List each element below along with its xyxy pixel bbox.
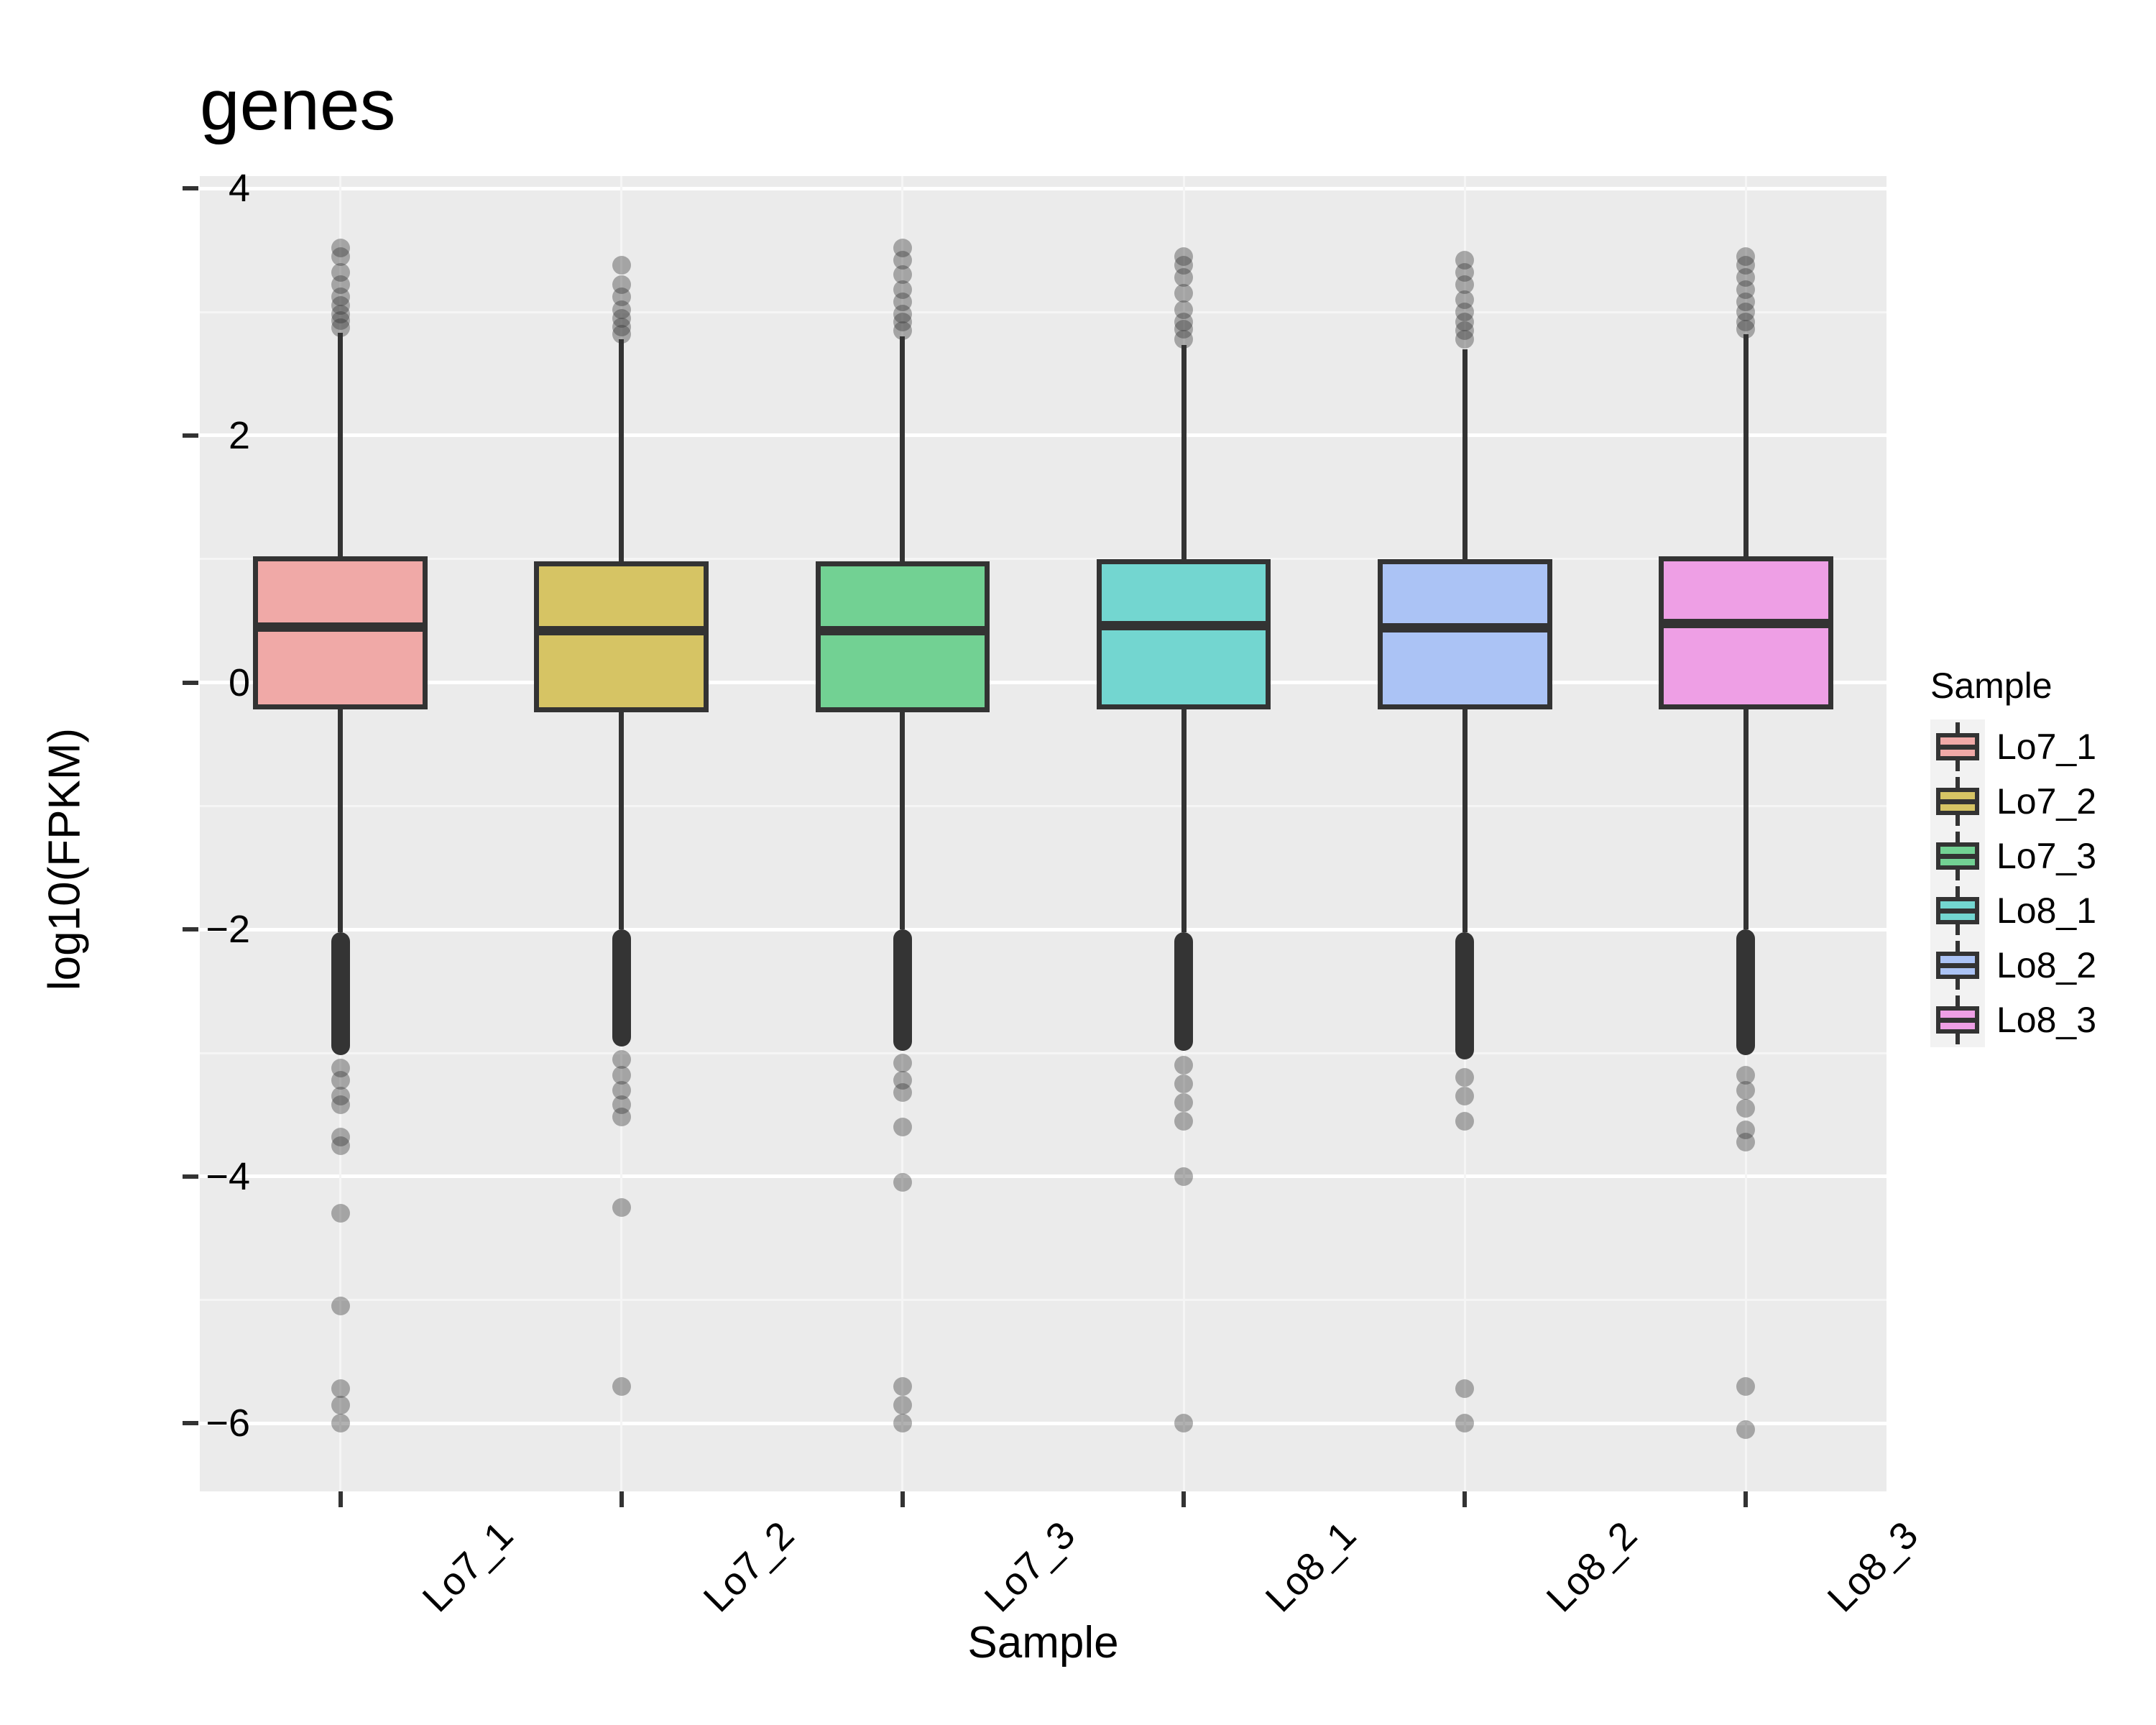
median-line [1378, 623, 1552, 632]
outlier-point [1174, 1075, 1193, 1093]
y-axis-tick-label: 2 [229, 413, 250, 458]
whisker-upper [1181, 345, 1187, 558]
outlier-point [1736, 247, 1755, 266]
legend-median-icon [1936, 963, 1979, 968]
legend-item-Lo8_3[interactable]: Lo8_3 [1930, 993, 2139, 1047]
gridline-minor [200, 1052, 1886, 1054]
legend-item-Lo7_3[interactable]: Lo7_3 [1930, 829, 2139, 883]
legend-swatch-Lo8_3 [1930, 993, 1985, 1047]
legend: Sample Lo7_1Lo7_2Lo7_3Lo8_1Lo8_2Lo8_3 [1930, 665, 2139, 1047]
median-line [534, 626, 709, 635]
median-line [816, 626, 990, 635]
x-axis-tick-mark [338, 1491, 343, 1507]
legend-item-Lo7_1[interactable]: Lo7_1 [1930, 719, 2139, 774]
outlier-point [1174, 1093, 1193, 1112]
boxplot-Lo7_1[interactable] [253, 176, 428, 1491]
outlier-point [331, 1095, 350, 1114]
outlier-point [612, 1108, 631, 1126]
outlier-point [893, 1173, 912, 1192]
outlier-point [1736, 1133, 1755, 1151]
box-iqr [1378, 559, 1552, 710]
outlier-point [1174, 1167, 1193, 1186]
whisker-upper [1743, 334, 1749, 556]
y-axis-tick-label: −4 [206, 1154, 250, 1199]
y-axis-tick-label: 0 [229, 661, 250, 705]
gridline-major [200, 928, 1886, 931]
outlier-point [1736, 1081, 1755, 1100]
x-axis-tick-label-Lo8_1: Lo8_1 [1257, 1513, 1365, 1621]
gridline-minor [200, 558, 1886, 560]
legend-swatch-Lo8_1 [1930, 883, 1985, 938]
outlier-point [893, 1377, 912, 1396]
outlier-point [331, 1297, 350, 1315]
whisker-lower [900, 712, 905, 929]
plot-panel [200, 176, 1886, 1491]
box-iqr [1659, 556, 1833, 709]
outlier-point [331, 1204, 350, 1223]
legend-label: Lo8_3 [1996, 999, 2096, 1041]
gridline-major [200, 1422, 1886, 1425]
outlier-point [893, 1118, 912, 1136]
outlier-point [1174, 1414, 1193, 1432]
outlier-cluster [1736, 929, 1755, 1055]
legend-swatch-Lo7_2 [1930, 774, 1985, 829]
outlier-point [1736, 1420, 1755, 1439]
outlier-point [331, 1414, 350, 1432]
outlier-point [612, 1377, 631, 1396]
outlier-point [1455, 1414, 1474, 1432]
outlier-cluster [331, 932, 350, 1056]
gridline-major [200, 187, 1886, 190]
legend-label: Lo8_1 [1996, 890, 2096, 931]
boxplot-Lo8_1[interactable] [1097, 176, 1271, 1491]
legend-label: Lo7_3 [1996, 835, 2096, 877]
legend-item-Lo7_2[interactable]: Lo7_2 [1930, 774, 2139, 829]
median-line [1659, 619, 1833, 628]
whisker-upper [338, 333, 343, 556]
legend-label: Lo7_1 [1996, 726, 2096, 768]
legend-median-icon [1936, 908, 1979, 914]
gridline-minor [200, 1299, 1886, 1301]
outlier-cluster [893, 929, 912, 1050]
outlier-point [1174, 247, 1193, 266]
outlier-point [612, 256, 631, 275]
outlier-point [612, 1198, 631, 1217]
y-axis-tick-mark [183, 927, 198, 931]
median-line [253, 622, 428, 632]
outlier-point [1455, 1087, 1474, 1105]
whisker-lower [1743, 709, 1749, 929]
outlier-point [893, 1414, 912, 1432]
legend-label: Lo7_2 [1996, 781, 2096, 822]
outlier-point [1736, 1377, 1755, 1396]
boxplot-Lo7_2[interactable] [534, 176, 709, 1491]
x-axis-tick-label-Lo8_3: Lo8_3 [1819, 1513, 1927, 1621]
legend-swatch-Lo7_1 [1930, 719, 1985, 774]
boxplot-Lo7_3[interactable] [816, 176, 990, 1491]
boxplot-Lo8_2[interactable] [1378, 176, 1552, 1491]
y-axis-tick-label: −6 [206, 1401, 250, 1445]
outlier-cluster [612, 929, 631, 1046]
boxplot-Lo8_3[interactable] [1659, 176, 1833, 1491]
outlier-point [1455, 1068, 1474, 1087]
outlier-point [1174, 1112, 1193, 1131]
outlier-point [1174, 300, 1193, 319]
legend-median-icon [1936, 1018, 1979, 1023]
whisker-upper [619, 339, 624, 561]
y-axis-tick-mark [183, 433, 198, 438]
y-axis-tick-mark [183, 186, 198, 190]
box-iqr [816, 561, 990, 712]
gridline-minor [200, 805, 1886, 807]
outlier-point [331, 263, 350, 282]
outlier-point [1455, 1379, 1474, 1398]
legend-title: Sample [1930, 665, 2139, 707]
outlier-point [1736, 1099, 1755, 1118]
outlier-point [893, 1054, 912, 1072]
legend-swatch-Lo8_2 [1930, 938, 1985, 993]
outlier-point [331, 1136, 350, 1155]
whisker-lower [619, 712, 624, 929]
outlier-point [331, 1396, 350, 1414]
x-axis-tick-label-Lo7_3: Lo7_3 [976, 1513, 1084, 1621]
x-axis-tick-label-Lo7_2: Lo7_2 [695, 1513, 803, 1621]
x-axis-tick-mark [619, 1491, 624, 1507]
y-axis-tick-mark [183, 1421, 198, 1425]
outlier-point [1455, 251, 1474, 270]
box-iqr [534, 561, 709, 712]
outlier-point [893, 239, 912, 257]
gridline-minor [200, 311, 1886, 313]
y-axis-tick-label: 4 [229, 166, 250, 211]
y-axis-title: log10(FPKM) [40, 608, 91, 1111]
page-title: genes [200, 69, 395, 141]
legend-items: Lo7_1Lo7_2Lo7_3Lo8_1Lo8_2Lo8_3 [1930, 719, 2139, 1047]
x-axis-tick-mark [1181, 1491, 1186, 1507]
x-axis-tick-label-Lo7_1: Lo7_1 [414, 1513, 522, 1621]
legend-median-icon [1936, 799, 1979, 804]
gridline-major [200, 433, 1886, 437]
outlier-point [1455, 1112, 1474, 1131]
legend-swatch-Lo7_3 [1930, 829, 1985, 883]
whisker-lower [1462, 709, 1468, 931]
gridline-major [200, 1174, 1886, 1178]
outlier-cluster [1455, 932, 1474, 1059]
y-axis-tick-mark [183, 1174, 198, 1179]
median-line [1097, 621, 1271, 630]
legend-item-Lo8_2[interactable]: Lo8_2 [1930, 938, 2139, 993]
y-axis-tick-mark [183, 681, 198, 685]
outlier-point [893, 1083, 912, 1102]
x-axis-tick-label-Lo8_2: Lo8_2 [1538, 1513, 1646, 1621]
gridline-major [200, 681, 1886, 684]
whisker-upper [1462, 349, 1468, 559]
whisker-lower [338, 709, 343, 931]
legend-median-icon [1936, 854, 1979, 859]
x-axis-title: Sample [200, 1617, 1886, 1668]
outlier-point [1174, 1056, 1193, 1075]
outlier-point [1174, 284, 1193, 303]
whisker-lower [1181, 709, 1187, 931]
outlier-cluster [1174, 932, 1193, 1051]
x-axis-tick-mark [900, 1491, 905, 1507]
outlier-point [612, 275, 631, 294]
outlier-point [331, 239, 350, 257]
x-axis-tick-mark [1743, 1491, 1748, 1507]
legend-label: Lo8_2 [1996, 944, 2096, 986]
legend-median-icon [1936, 745, 1979, 750]
y-axis-tick-label: −2 [206, 907, 250, 952]
legend-item-Lo8_1[interactable]: Lo8_1 [1930, 883, 2139, 938]
outlier-point [893, 1396, 912, 1414]
box-iqr [1097, 559, 1271, 710]
box-iqr [253, 556, 428, 709]
whisker-upper [900, 336, 905, 561]
x-axis-tick-mark [1462, 1491, 1467, 1507]
